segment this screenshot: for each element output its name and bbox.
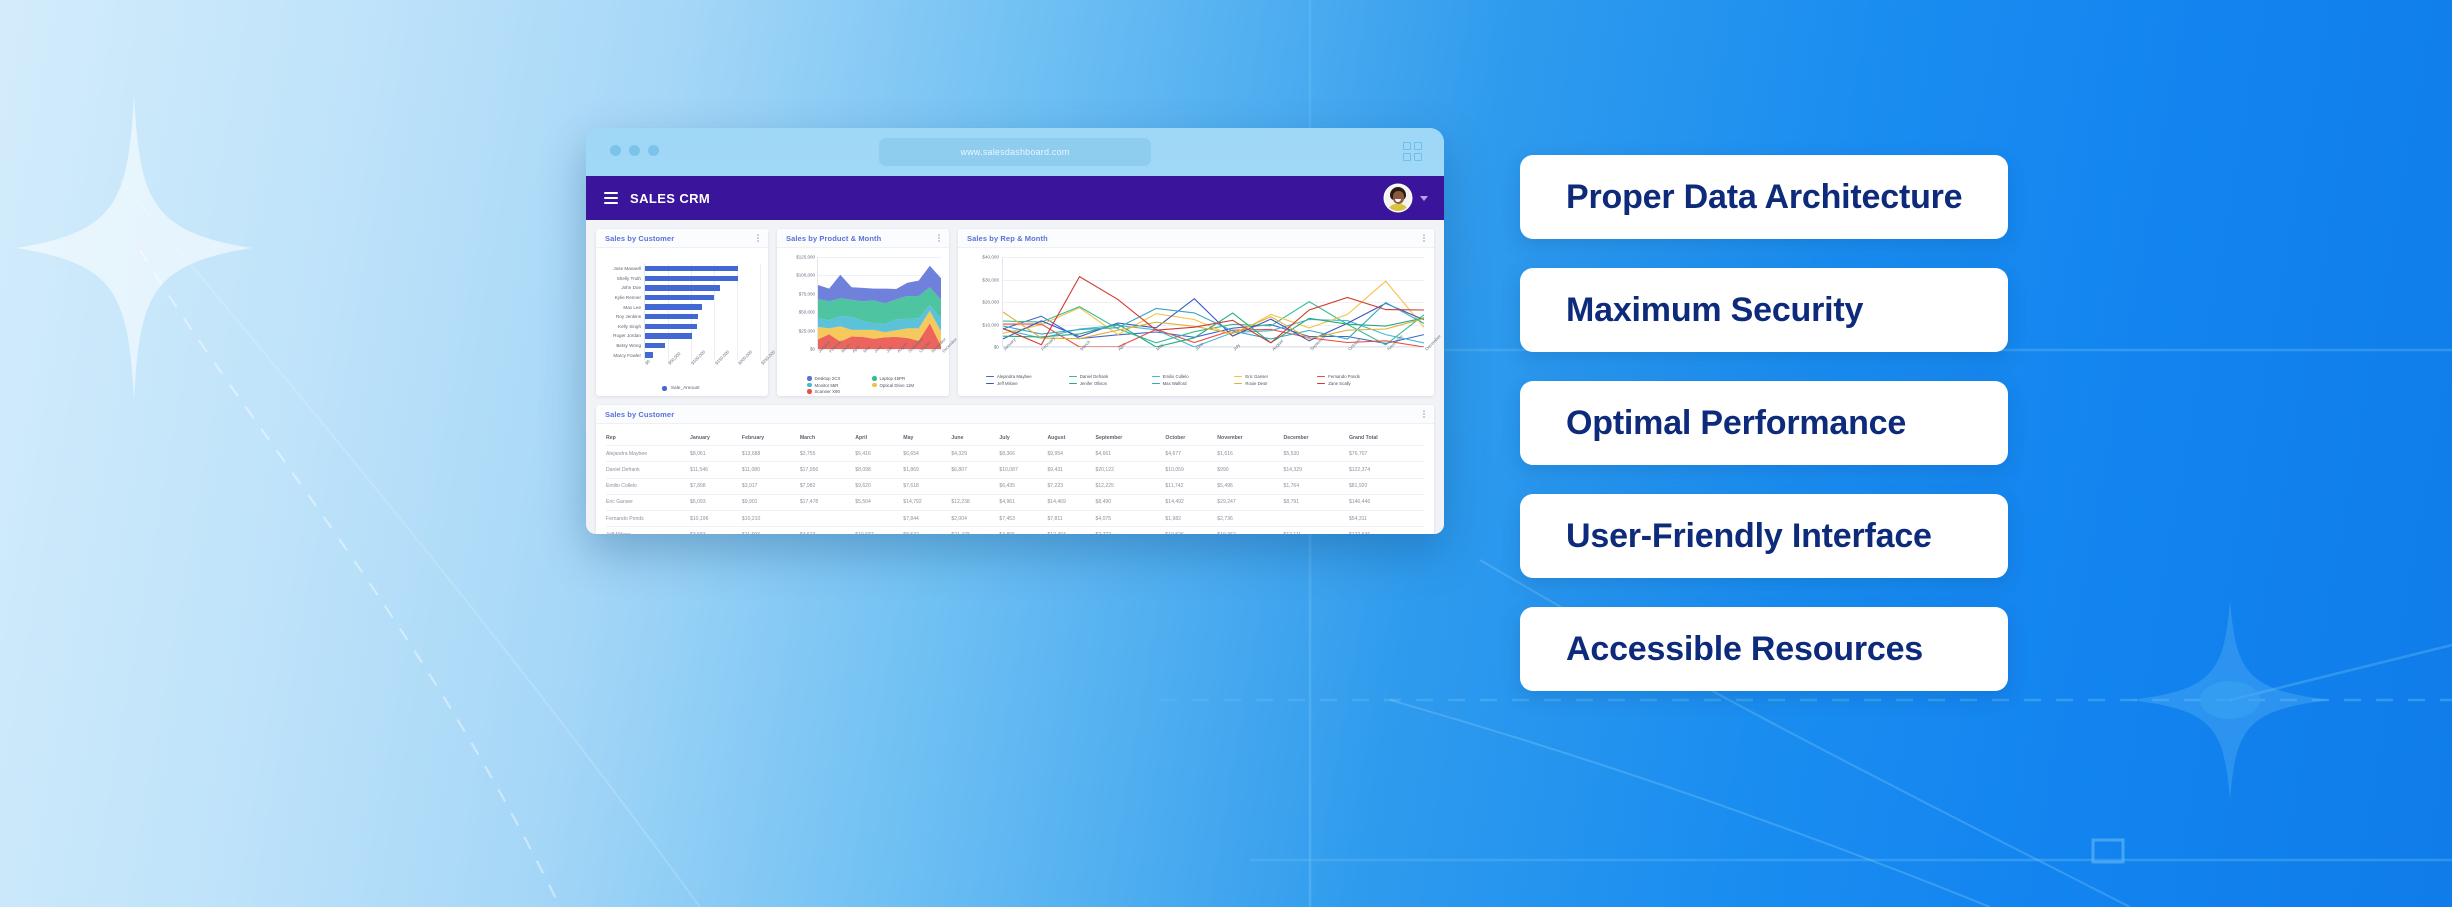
bar-chart-row: Shelly Truth (645, 274, 760, 284)
legend-item: Desktop 2CX (807, 376, 872, 381)
table-cell-amount: $17,478 (800, 494, 855, 510)
table-cell-amount: $5,530 (1283, 446, 1348, 462)
bar (645, 295, 714, 300)
table-cell-amount: $12,225 (1095, 478, 1165, 494)
feature-card-proper-data-architecture[interactable]: Proper Data Architecture (1520, 155, 2008, 239)
table-cell-amount: $8,061 (690, 446, 742, 462)
bar (645, 352, 653, 357)
card-body: Jose MaxwellShelly TruthJohn DoeKylie Re… (596, 248, 768, 396)
legend-swatch (807, 376, 812, 381)
legend-label: Zane Scally (1328, 381, 1350, 386)
grid-icon[interactable] (1403, 142, 1422, 161)
card-sales-by-product-month: Sales by Product & Month $0$25,000$50,00… (777, 229, 949, 396)
profile-menu[interactable] (1385, 185, 1428, 211)
table-row: Jeff Milone$3,583$11,593$4,623$10,687$8,… (606, 527, 1424, 534)
card-sales-by-rep-month: Sales by Rep & Month $0$10,000$20,000$30… (958, 229, 1434, 396)
table-cell-amount: $2,736 (1217, 510, 1283, 526)
legend-label: Eric Ganser (1245, 374, 1268, 379)
table-cell-amount: $4,329 (951, 446, 999, 462)
legend-label: Alejandra Maybee (997, 374, 1032, 379)
table-cell-amount: $10,210 (742, 510, 800, 526)
dashboard-body: Sales by Customer Jose MaxwellShelly Tru… (586, 220, 1444, 534)
table-cell-rep: Fernando Ponds (606, 510, 690, 526)
legend-swatch (1317, 383, 1325, 385)
table-cell-amount: $17,956 (800, 462, 855, 478)
area-chart-y-tick: $50,000 (799, 310, 815, 315)
line-chart: $0$10,000$20,000$30,000$40,000 JanuaryFe… (958, 248, 1434, 396)
legend-swatch (807, 389, 812, 394)
table-cell-amount: $8,490 (1095, 494, 1165, 510)
bar (645, 304, 702, 309)
table-cell-amount: $4,075 (1095, 510, 1165, 526)
table-column-header: May (903, 430, 951, 446)
address-bar[interactable]: www.salesdashboard.com (879, 138, 1151, 166)
table-cell-amount: $11,742 (1165, 478, 1217, 494)
line-chart-svg (1003, 257, 1424, 347)
legend-item: Eric Ganser (1234, 374, 1317, 379)
bar-chart: Jose MaxwellShelly TruthJohn DoeKylie Re… (596, 248, 768, 396)
browser-window: www.salesdashboard.com SALES CRM Sales (586, 128, 1444, 534)
table-cell-amount: $21,478 (951, 527, 999, 534)
browser-chrome: www.salesdashboard.com (586, 128, 1444, 176)
legend-item: Jenifer Ollison (1069, 381, 1152, 386)
table-cell-amount: $19,362 (1217, 527, 1283, 534)
table-cell-amount: $4,677 (1165, 446, 1217, 462)
table-cell-amount: $14,792 (903, 494, 951, 510)
bar-chart-row: Jose Maxwell (645, 264, 760, 274)
legend-item: Jeff Milone (986, 381, 1069, 386)
feature-card-accessible-resources[interactable]: Accessible Resources (1520, 607, 2008, 691)
bar-chart-category-label: Roy Jenkins (616, 314, 641, 319)
table-column-header: August (1047, 430, 1095, 446)
table-column-header: February (742, 430, 800, 446)
area-chart-x-axis: JanuaryFebruaryMarchAprilMayJuneJulyAugu… (817, 349, 941, 375)
window-controls[interactable] (610, 145, 659, 156)
legend-item: Optical Drive 11M (872, 383, 937, 388)
card-title: Sales by Rep & Month (967, 234, 1048, 243)
table-column-header: June (951, 430, 999, 446)
legend-swatch (986, 376, 994, 378)
table-cell-amount: $122,536 (1349, 527, 1424, 534)
table-cell-amount: $7,811 (1047, 510, 1095, 526)
table-cell-amount: $8,366 (999, 446, 1047, 462)
bar-chart-category-label: Max Lee (623, 305, 641, 310)
card-header: Sales by Product & Month (777, 229, 949, 248)
table-cell-rep: Emilio Collelo (606, 478, 690, 494)
sales-table: RepJanuaryFebruaryMarchAprilMayJuneJulyA… (606, 430, 1424, 534)
legend-item: Max Walford (1152, 381, 1235, 386)
table-header-row: RepJanuaryFebruaryMarchAprilMayJuneJulyA… (606, 430, 1424, 446)
table-column-header: Grand Total (1349, 430, 1424, 446)
legend-item: Zane Scally (1317, 381, 1400, 386)
table-cell-amount: $6,093 (690, 494, 742, 510)
area-chart-y-tick: $75,000 (799, 291, 815, 296)
bar (645, 266, 738, 271)
legend-label: Jeff Milone (997, 381, 1018, 386)
table-cell-amount: $8,791 (1283, 494, 1348, 510)
legend-label: Desktop 2CX (815, 376, 841, 381)
legend-label: Sale_Amount (671, 386, 700, 391)
table-cell-rep: Alejandra Maybee (606, 446, 690, 462)
crm-application: SALES CRM Sales by Customer (586, 176, 1444, 534)
table-row: Alejandra Maybee$8,061$13,688$3,755$5,41… (606, 446, 1424, 462)
table-cell-amount: $12,238 (951, 494, 999, 510)
area-chart-legend: Desktop 2CXLaptop 45PRMonitor 55ROptical… (807, 376, 937, 396)
legend-label: Optical Drive 11M (880, 383, 915, 388)
area-chart-y-tick: $125,000 (796, 255, 815, 260)
table-cell-amount: $7,453 (999, 510, 1047, 526)
bar-chart-x-tick: $0 (644, 359, 651, 366)
bar (645, 276, 738, 281)
table-row: Eric Ganser$6,093$9,901$17,478$5,504$14,… (606, 494, 1424, 510)
window-maximize-dot[interactable] (648, 145, 659, 156)
bar-chart-x-tick: $250,000 (760, 349, 776, 365)
table-cell-amount: $10,687 (855, 527, 903, 534)
table-cell-amount: $10,196 (690, 510, 742, 526)
bar-chart-category-label: Shelly Truth (617, 276, 641, 281)
kebab-menu-icon[interactable] (1423, 234, 1425, 241)
card-title: Sales by Product & Month (786, 234, 881, 243)
table-cell-amount: $10,059 (1165, 462, 1217, 478)
feature-label: User-Friendly Interface (1566, 517, 1932, 556)
table-cell-amount: $29,247 (1217, 494, 1283, 510)
legend-swatch (872, 376, 877, 381)
legend-label: Jenifer Ollison (1080, 381, 1107, 386)
table-column-header: January (690, 430, 742, 446)
table-cell-amount: $3,755 (800, 446, 855, 462)
table-body: Alejandra Maybee$8,061$13,688$3,755$5,41… (606, 446, 1424, 534)
table-column-header: March (800, 430, 855, 446)
window-close-dot[interactable] (610, 145, 621, 156)
legend-swatch (1152, 376, 1160, 378)
table-column-header: Rep (606, 430, 690, 446)
line-series (1003, 303, 1424, 339)
table-cell-amount: $81,920 (1349, 478, 1424, 494)
bar-chart-category-label: John Doe (621, 285, 641, 290)
table-cell-amount: $122,374 (1349, 462, 1424, 478)
avatar[interactable] (1385, 185, 1411, 211)
legend-label: Laptop 45PR (880, 376, 906, 381)
legend-swatch (1234, 376, 1242, 378)
table-cell-amount: $11,593 (742, 527, 800, 534)
card-body: $0$10,000$20,000$30,000$40,000 JanuaryFe… (958, 248, 1434, 396)
table-cell-amount: $10,526 (1165, 527, 1217, 534)
legend-label: Emilio Collelo (1163, 374, 1189, 379)
line-chart-y-tick: $10,000 (982, 322, 999, 327)
feature-card-maximum-security[interactable]: Maximum Security (1520, 268, 2008, 352)
area-chart: $0$25,000$50,000$75,000$100,000$125,000 … (777, 248, 949, 396)
table-cell-amount: $146,446 (1349, 494, 1424, 510)
table-cell-amount: $54,311 (1349, 510, 1424, 526)
table-cell-amount: $10,087 (999, 462, 1047, 478)
feature-card-user-friendly-interface[interactable]: User-Friendly Interface (1520, 494, 2008, 578)
bar-chart-row: Roger Jordan (645, 331, 760, 341)
table-cell-amount: $7,898 (690, 478, 742, 494)
bar (645, 285, 720, 290)
charts-row: Sales by Customer Jose MaxwellShelly Tru… (596, 229, 1434, 396)
table-cell-amount: $14,469 (1047, 494, 1095, 510)
table-cell-amount: $9,431 (1047, 462, 1095, 478)
bar-chart-legend: Sale_Amount (602, 386, 760, 391)
feature-list: Proper Data Architecture Maximum Securit… (1520, 155, 2008, 691)
table-cell-amount: $7,223 (1047, 478, 1095, 494)
chevron-down-icon[interactable] (1420, 196, 1428, 201)
table-column-header: April (855, 430, 903, 446)
table-cell-amount: $7,982 (800, 478, 855, 494)
table-cell-amount: $7,844 (903, 510, 951, 526)
kebab-menu-icon[interactable] (757, 234, 759, 241)
card-header: Sales by Rep & Month (958, 229, 1434, 248)
table-column-header: December (1283, 430, 1348, 446)
bar (645, 324, 697, 329)
table-cell-amount (951, 478, 999, 494)
area-chart-y-tick: $0 (810, 347, 815, 352)
table-cell-amount: $9,954 (1047, 446, 1095, 462)
line-chart-y-tick: $20,000 (982, 300, 999, 305)
table-cell-amount: $9,901 (742, 494, 800, 510)
card-sales-by-customer-chart: Sales by Customer Jose MaxwellShelly Tru… (596, 229, 768, 396)
table-cell-amount: $14,492 (1165, 494, 1217, 510)
table-cell-amount (800, 510, 855, 526)
table-cell-amount: $2,772 (1095, 527, 1165, 534)
area-chart-y-tick: $25,000 (799, 328, 815, 333)
line-chart-y-tick: $40,000 (982, 255, 999, 260)
bar-chart-row: Kelly Singh (645, 322, 760, 332)
table-cell-amount: $5,496 (1217, 478, 1283, 494)
table-wrapper: RepJanuaryFebruaryMarchAprilMayJuneJulyA… (596, 424, 1434, 534)
legend-swatch (1234, 383, 1242, 385)
table-cell-rep: Daniel Defrank (606, 462, 690, 478)
table-cell-amount: $14,329 (1283, 462, 1348, 478)
table-cell-amount: $8,532 (903, 527, 951, 534)
table-cell-amount: $12,111 (1283, 527, 1348, 534)
bar (645, 314, 698, 319)
table-cell-amount: $76,707 (1349, 446, 1424, 462)
bar-chart-category-label: Kelly Singh (618, 324, 641, 329)
card-body: $0$25,000$50,000$75,000$100,000$125,000 … (777, 248, 949, 396)
area-chart-y-tick: $100,000 (796, 273, 815, 278)
table-cell-rep: Jeff Milone (606, 527, 690, 534)
legend-swatch (1069, 383, 1077, 385)
line-chart-legend: Alejandra MaybeeDaniel DefrankEmilio Col… (962, 374, 1424, 388)
table-cell-amount: $4,661 (1095, 446, 1165, 462)
table-cell-amount: $1,869 (903, 462, 951, 478)
legend-label: Max Walford (1163, 381, 1187, 386)
bar-chart-category-label: Kylie Renner (615, 295, 641, 300)
table-cell-rep: Eric Ganser (606, 494, 690, 510)
area-chart-svg (818, 257, 941, 349)
window-minimize-dot[interactable] (629, 145, 640, 156)
table-column-header: October (1165, 430, 1217, 446)
table-row: Fernando Ponds$10,196$10,210$7,844$2,004… (606, 510, 1424, 526)
table-cell-amount: $2,004 (951, 510, 999, 526)
bar-chart-x-axis: $0$50,000$100,000$150,000$200,000$250,00… (644, 360, 760, 384)
bar-chart-row: Kylie Renner (645, 293, 760, 303)
table-cell-amount: $11,546 (690, 462, 742, 478)
table-cell-amount: $6,807 (951, 462, 999, 478)
bar (645, 333, 692, 338)
feature-label: Proper Data Architecture (1566, 178, 1962, 217)
table-cell-amount: $1,764 (1283, 478, 1348, 494)
table-column-header: July (999, 430, 1047, 446)
legend-swatch (1317, 376, 1325, 378)
line-chart-x-tick: December (1424, 334, 1442, 352)
legend-label: Monitor 55R (815, 383, 839, 388)
bar-chart-category-label: Marcy Fowler (613, 353, 641, 358)
line-chart-y-tick: $0 (994, 345, 999, 350)
table-cell-amount: $4,961 (999, 494, 1047, 510)
kebab-menu-icon[interactable] (1423, 410, 1425, 417)
bar-chart-category-label: Roger Jordan (613, 333, 641, 338)
table-cell-amount: $13,688 (742, 446, 800, 462)
table-cell-amount: $5,416 (855, 446, 903, 462)
kebab-menu-icon[interactable] (938, 234, 940, 241)
legend-item: Laptop 45PR (872, 376, 937, 381)
app-brand-title: SALES CRM (630, 191, 710, 206)
app-header: SALES CRM (586, 176, 1444, 220)
card-sales-table: Sales by Customer RepJanuaryFebruaryMarc… (596, 405, 1434, 534)
legend-swatch (872, 383, 877, 388)
table-cell-amount: $1,982 (1165, 510, 1217, 526)
table-cell-amount: $12,404 (1047, 527, 1095, 534)
bar-chart-category-label: Betsy Wong (616, 343, 641, 348)
line-chart-y-tick: $30,000 (982, 277, 999, 282)
legend-item: Daniel Defrank (1069, 374, 1152, 379)
feature-label: Optimal Performance (1566, 404, 1906, 443)
bar-chart-category-label: Jose Maxwell (613, 266, 641, 271)
table-cell-amount: $1,616 (1217, 446, 1283, 462)
legend-swatch (1152, 383, 1160, 385)
legend-item: Scanner X90 (807, 389, 872, 394)
legend-item: Monitor 55R (807, 383, 872, 388)
feature-card-optimal-performance[interactable]: Optimal Performance (1520, 381, 2008, 465)
legend-label: Fernando Ponds (1328, 374, 1360, 379)
table-row: Emilio Collelo$7,898$3,917$7,982$9,620$7… (606, 478, 1424, 494)
line-chart-plot: $0$10,000$20,000$30,000$40,000 (1002, 257, 1424, 347)
card-header: Sales by Customer (596, 405, 1434, 424)
table-column-header: September (1095, 430, 1165, 446)
table-cell-amount: $11,080 (742, 462, 800, 478)
table-cell-amount: $5,504 (855, 494, 903, 510)
table-column-header: November (1217, 430, 1283, 446)
hamburger-icon[interactable] (604, 192, 618, 205)
area-chart-plot: $0$25,000$50,000$75,000$100,000$125,000 (817, 257, 941, 349)
table-cell-amount: $8,098 (855, 462, 903, 478)
legend-label: Scanner X90 (815, 389, 840, 394)
table-cell-amount: $4,865 (999, 527, 1047, 534)
bar-chart-row: John Doe (645, 283, 760, 293)
bar-chart-row: Max Lee (645, 302, 760, 312)
legend-label: Roxie Desir (1245, 381, 1267, 386)
bar (645, 343, 665, 348)
legend-item: Roxie Desir (1234, 381, 1317, 386)
table-cell-amount: $4,623 (800, 527, 855, 534)
legend-swatch (807, 383, 812, 388)
card-title: Sales by Customer (605, 234, 674, 243)
bar-chart-plot: Jose MaxwellShelly TruthJohn DoeKylie Re… (644, 264, 760, 360)
line-series (1003, 281, 1424, 336)
table-cell-amount: $6,435 (999, 478, 1047, 494)
legend-item: Alejandra Maybee (986, 374, 1069, 379)
table-cell-amount: $7,618 (903, 478, 951, 494)
legend-item: Emilio Collelo (1152, 374, 1235, 379)
legend-item: Fernando Ponds (1317, 374, 1400, 379)
legend-swatch (986, 383, 994, 385)
table-cell-amount: $6,654 (903, 446, 951, 462)
legend-swatch (662, 386, 667, 391)
card-title: Sales by Customer (605, 410, 674, 419)
bar-chart-row: Roy Jenkins (645, 312, 760, 322)
table-cell-amount (1283, 510, 1348, 526)
legend-swatch (1069, 376, 1077, 378)
table-cell-amount: $3,917 (742, 478, 800, 494)
table-row: Daniel Defrank$11,546$11,080$17,956$8,09… (606, 462, 1424, 478)
feature-label: Maximum Security (1566, 291, 1863, 330)
legend-label: Daniel Defrank (1080, 374, 1108, 379)
feature-label: Accessible Resources (1566, 630, 1923, 669)
table-cell-amount (855, 510, 903, 526)
table-cell-amount: $9,620 (855, 478, 903, 494)
table-cell-amount: $990 (1217, 462, 1283, 478)
line-chart-x-axis: JanuaryFebruaryMarchAprilMayJuneJulyAugu… (1002, 347, 1424, 373)
table-cell-amount: $3,583 (690, 527, 742, 534)
card-header: Sales by Customer (596, 229, 768, 248)
table-cell-amount: $20,122 (1095, 462, 1165, 478)
address-bar-url: www.salesdashboard.com (961, 147, 1070, 157)
